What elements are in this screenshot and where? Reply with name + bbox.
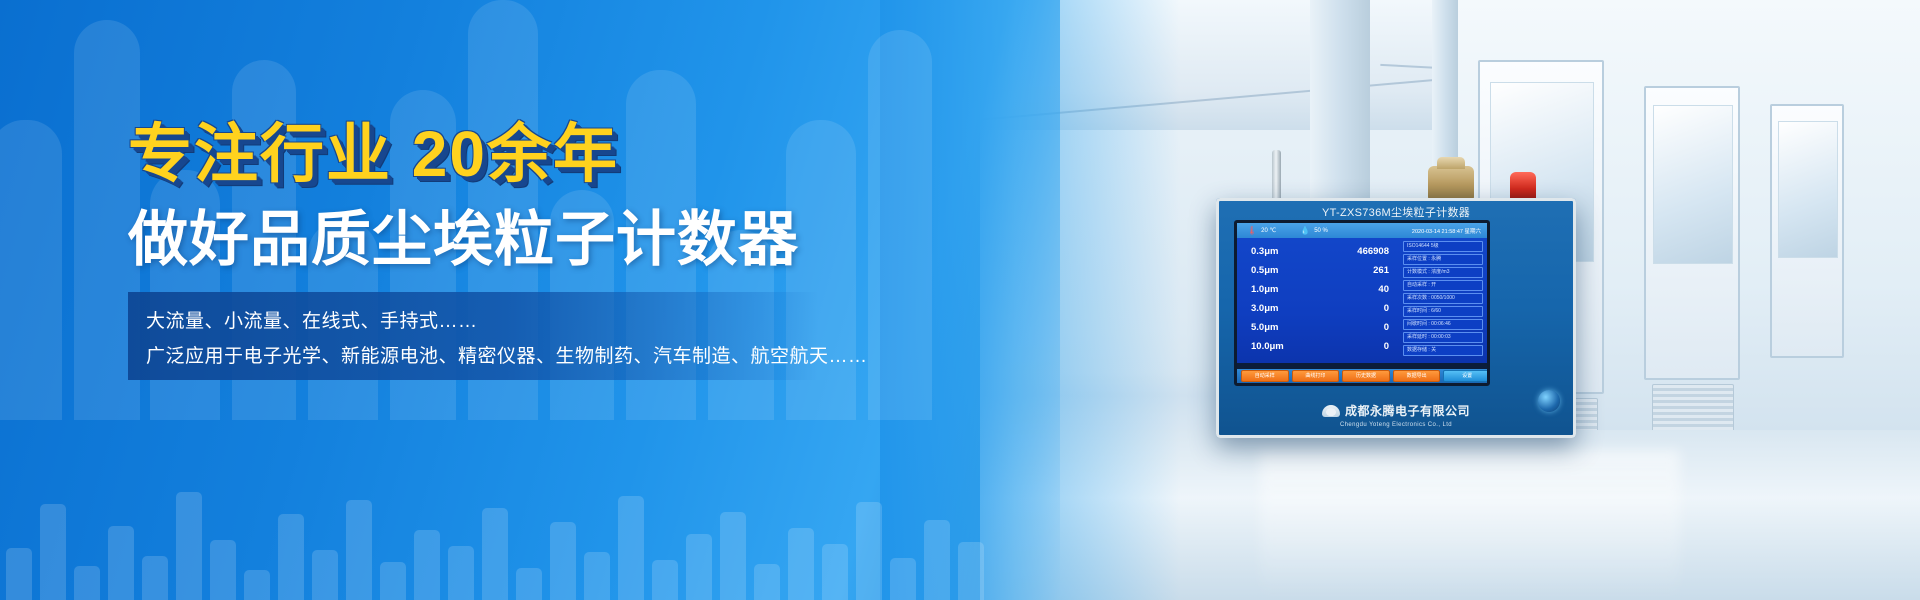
parameter-item: 采样位置 : 永腾 xyxy=(1403,254,1483,265)
promo-banner: 专注行业 20余年 做好品质尘埃粒子计数器 大流量、小流量、在线式、手持式…… … xyxy=(0,0,1920,600)
banner-headline: 专注行业 20余年 xyxy=(128,122,619,186)
button-data-export[interactable]: 数据导出 xyxy=(1393,370,1441,382)
corridor-door xyxy=(1644,86,1740,380)
parameter-item: 采样次数 : 0050/1000 xyxy=(1403,293,1483,304)
humidity-drop-icon: 💧 xyxy=(1300,226,1310,235)
channel-size: 10.0μm xyxy=(1251,337,1284,356)
channel-row: 1.0μm 40 xyxy=(1237,280,1397,299)
channel-row: 3.0μm 0 xyxy=(1237,299,1397,318)
description-plate: 大流量、小流量、在线式、手持式…… 广泛应用于电子光学、新能源电池、精密仪器、生… xyxy=(128,292,818,380)
channel-count: 40 xyxy=(1378,280,1389,299)
floor-reflection xyxy=(1260,450,1680,600)
channel-count: 466908 xyxy=(1357,242,1389,261)
device-screen[interactable]: 🌡 20 ℃ 💧 50 % 2020-03-14 21:58:47 星期六 0.… xyxy=(1234,220,1490,386)
description-line-2: 广泛应用于电子光学、新能源电池、精密仪器、生物制药、汽车制造、航空航天…… xyxy=(146,341,868,368)
channel-size: 0.5μm xyxy=(1251,261,1278,280)
particle-counter-device: YT-ZXS736M尘埃粒子计数器 🌡 20 ℃ 💧 50 % 2020-03-… xyxy=(1216,198,1576,438)
particle-channel-list: 0.3μm 466908 0.5μm 261 1.0μm 40 3.0μm 0 xyxy=(1237,242,1397,356)
power-indicator-icon[interactable] xyxy=(1538,390,1560,412)
brand-name-cn: 成都永腾电子有限公司 xyxy=(1345,404,1470,418)
channel-size: 0.3μm xyxy=(1251,242,1278,261)
button-settings[interactable]: 设置 xyxy=(1443,370,1490,382)
banner-subheadline: 做好品质尘埃粒子计数器 xyxy=(128,210,799,270)
sampling-probe xyxy=(1272,150,1281,200)
channel-row: 10.0μm 0 xyxy=(1237,337,1397,356)
device-model-label: YT-ZXS736M尘埃粒子计数器 xyxy=(1216,204,1576,220)
device-branding: 成都永腾电子有限公司 Chengdu Yoteng Electronics Co… xyxy=(1216,402,1576,428)
parameter-item: ISO14644 5级 xyxy=(1403,241,1483,252)
screen-body: 0.3μm 466908 0.5μm 261 1.0μm 40 3.0μm 0 xyxy=(1237,238,1487,363)
parameter-item: 计数模式 : 浓度/m3 xyxy=(1403,267,1483,278)
channel-count: 0 xyxy=(1384,337,1389,356)
brass-connector-knob xyxy=(1428,166,1474,200)
channel-row: 5.0μm 0 xyxy=(1237,318,1397,337)
channel-size: 5.0μm xyxy=(1251,318,1278,337)
red-alarm-beacon-icon xyxy=(1510,172,1536,200)
channel-count: 0 xyxy=(1384,318,1389,337)
parameter-panel: ISO14644 5级 采样位置 : 永腾 计数模式 : 浓度/m3 自动采样 … xyxy=(1403,241,1483,358)
brand-name-en: Chengdu Yoteng Electronics Co., Ltd xyxy=(1216,422,1576,428)
channel-row: 0.5μm 261 xyxy=(1237,261,1397,280)
corridor-door xyxy=(1770,104,1844,358)
description-line-1: 大流量、小流量、在线式、手持式…… xyxy=(146,306,478,333)
parameter-item: 采样时间 : 6/60 xyxy=(1403,306,1483,317)
parameter-item: 间歇时间 : 00:06:46 xyxy=(1403,319,1483,330)
screen-status-bar: 🌡 20 ℃ 💧 50 % 2020-03-14 21:58:47 星期六 xyxy=(1237,223,1487,238)
door-window xyxy=(1778,121,1839,258)
channel-size: 1.0μm xyxy=(1251,280,1278,299)
button-history-data[interactable]: 历史数据 xyxy=(1342,370,1390,382)
temperature-value: 20 ℃ xyxy=(1261,227,1276,234)
channel-row: 0.3μm 466908 xyxy=(1237,242,1397,261)
channel-size: 3.0μm xyxy=(1251,299,1278,318)
thermometer-icon: 🌡 xyxy=(1247,226,1257,235)
yoteng-logo-icon xyxy=(1322,405,1340,417)
parameter-item: 数据存储 : 关 xyxy=(1403,345,1483,356)
parameter-item: 自动采样 : 开 xyxy=(1403,280,1483,291)
humidity-value: 50 % xyxy=(1314,228,1328,234)
button-curve-print[interactable]: 曲线打印 xyxy=(1292,370,1340,382)
channel-count: 0 xyxy=(1384,299,1389,318)
decorative-equalizer-strip xyxy=(0,400,1010,600)
screen-button-bar: 自动采样 曲线打印 历史数据 数据导出 设置 xyxy=(1237,369,1490,383)
parameter-item: 采样延时 : 00:00:03 xyxy=(1403,332,1483,343)
door-window xyxy=(1653,105,1732,264)
button-auto-sample[interactable]: 自动采样 xyxy=(1241,370,1289,382)
channel-count: 261 xyxy=(1373,261,1389,280)
screen-timestamp: 2020-03-14 21:58:47 星期六 xyxy=(1412,227,1481,235)
